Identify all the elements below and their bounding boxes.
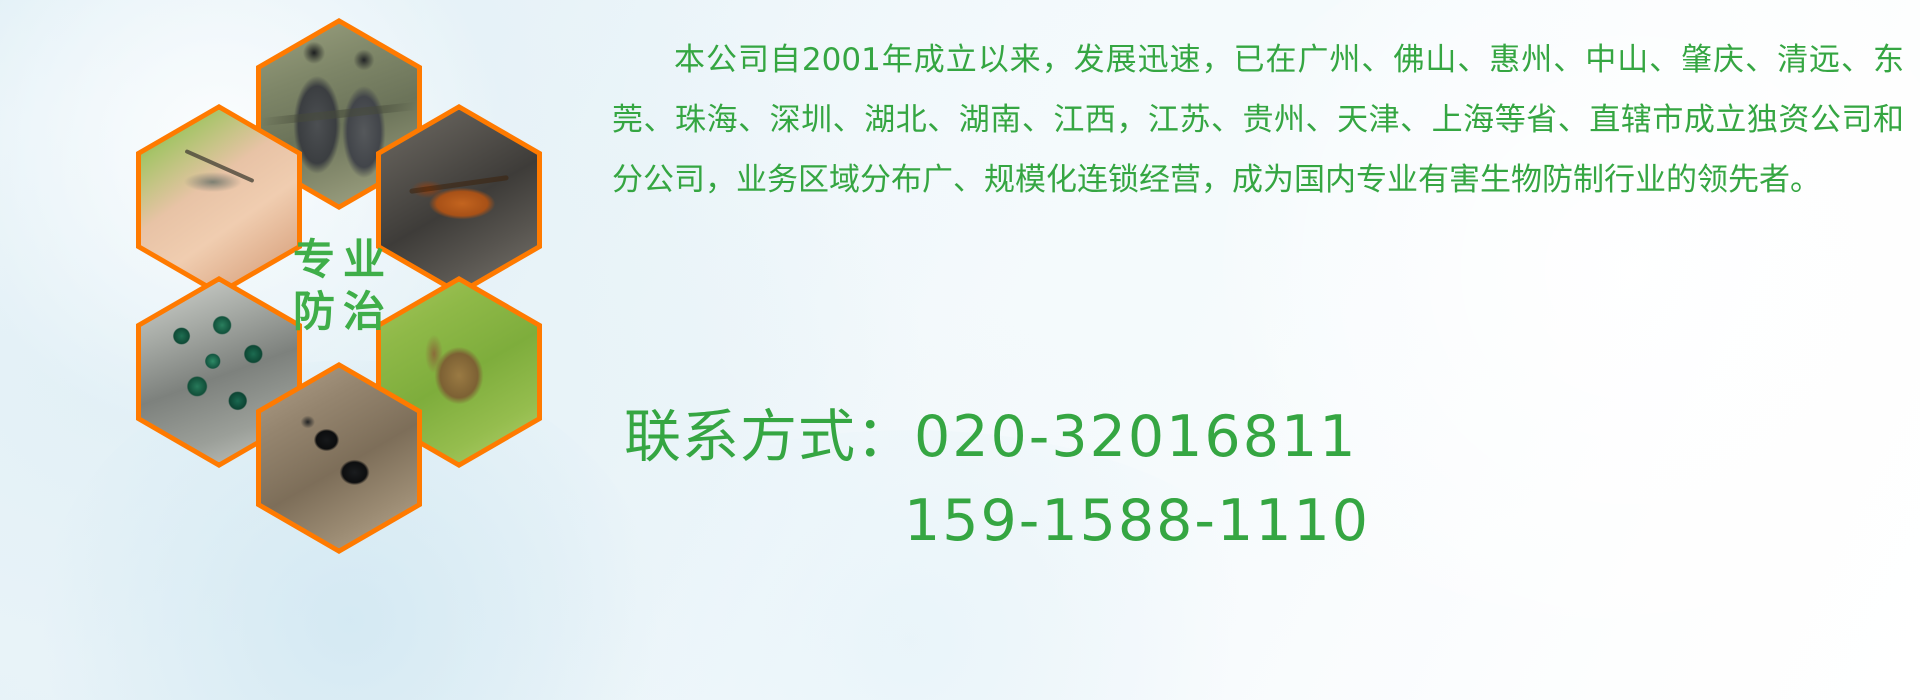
slogan-line-2: 防治 [285, 289, 393, 335]
company-intro-block: 本公司自2001年成立以来，发展迅速，已在广州、佛山、惠州、中山、肇庆、清远、东… [612, 30, 1904, 210]
ant-photo [261, 368, 417, 549]
contact-label: 联系方式： [624, 404, 914, 470]
contact-phone-primary[interactable]: 020-32016811 [914, 404, 1357, 470]
contact-primary-row: 联系方式：020-32016811 [612, 395, 1904, 479]
slogan-line-1: 专业 [285, 237, 393, 283]
hexagon-photo-collage: 专业 防治 [90, 18, 590, 563]
contact-phone-secondary[interactable]: 159-1588-1110 [904, 488, 1370, 554]
slogan-hexagon: 专业 防治 [256, 190, 422, 382]
hexagon-frame-ant [261, 368, 417, 549]
company-intro-paragraph: 本公司自2001年成立以来，发展迅速，已在广州、佛山、惠州、中山、肇庆、清远、东… [612, 30, 1904, 210]
contact-block: 联系方式：020-32016811 159-1588-1110 [612, 395, 1904, 563]
contact-secondary-row: 159-1588-1110 [612, 479, 1904, 563]
promo-banner: 专业 防治 本公司自2001年成立以来，发展迅速，已在广州、佛山、惠州、中山、肇… [0, 0, 1920, 700]
